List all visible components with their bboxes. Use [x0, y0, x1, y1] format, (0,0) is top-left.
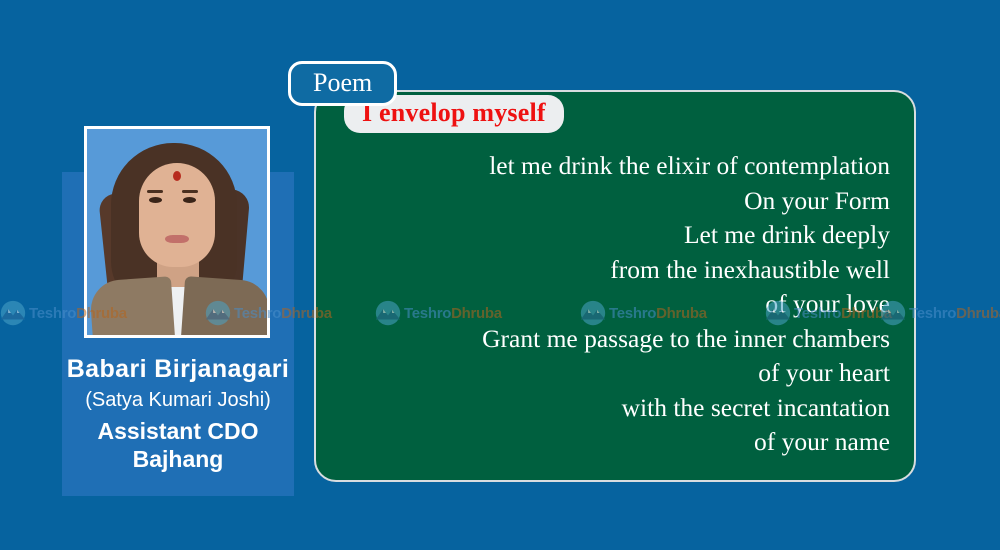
profile-details: Babari Birjanagari (Satya Kumari Joshi) … — [62, 356, 294, 474]
portrait-jacket-left — [89, 276, 175, 338]
profile-name: Babari Birjanagari — [62, 356, 294, 384]
watermark-text-primary: Teshro — [909, 305, 956, 322]
mountain-globe-icon — [0, 300, 26, 326]
portrait-tika-icon — [173, 171, 181, 181]
poem-line: On your Form — [346, 184, 890, 219]
poem-line: from the inexhaustible well — [346, 253, 890, 288]
poem-line: with the secret incantation — [346, 391, 890, 426]
portrait-brow-right — [182, 190, 198, 193]
profile-photo-frame — [84, 126, 270, 338]
poem-line: Let me drink deeply — [346, 218, 890, 253]
profile-alias: (Satya Kumari Joshi) — [62, 387, 294, 414]
portrait-photo — [87, 129, 267, 335]
poem-line: let me drink the elixir of contemplation — [346, 149, 890, 184]
portrait-brow-left — [147, 190, 163, 193]
poem-body: let me drink the elixir of contemplation… — [346, 149, 890, 460]
poem-tab[interactable]: Poem — [288, 61, 397, 106]
poem-line: of your name — [346, 425, 890, 460]
portrait-jacket-right — [181, 276, 270, 338]
portrait-eye-left — [149, 197, 162, 203]
poem-panel: I envelop myself let me drink the elixir… — [314, 90, 916, 482]
poem-line: of your heart — [346, 356, 890, 391]
profile-role: Assistant CDO — [62, 417, 294, 446]
poem-line: of your love — [346, 287, 890, 322]
watermark-text-secondary: Dhruba — [956, 305, 1000, 322]
portrait-lips — [165, 235, 189, 243]
portrait-eye-right — [183, 197, 196, 203]
poem-card-screenshot: Babari Birjanagari (Satya Kumari Joshi) … — [0, 0, 1000, 550]
poem-line: Grant me passage to the inner chambers — [346, 322, 890, 357]
profile-district: Bajhang — [62, 445, 294, 474]
